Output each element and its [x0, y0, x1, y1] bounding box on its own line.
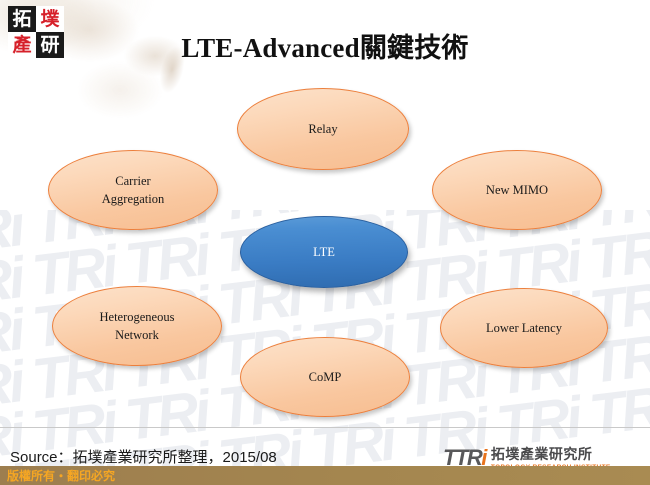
node-label-line2: Aggregation — [102, 192, 164, 206]
copyright-text: 版權所有‧翻印必究 — [7, 467, 115, 484]
copyright-bar: 版權所有‧翻印必究 — [0, 466, 650, 485]
diagram-node-lte-center[interactable]: LTE — [240, 216, 408, 288]
tri-wordmark: TTRi — [443, 448, 486, 468]
diagram-node-relay[interactable]: Relay — [237, 88, 409, 170]
node-label-line1: Heterogeneous — [100, 310, 175, 324]
slide-canvas: TRi TRi TRi TRi TRi TRi TRi TRi TRi TRi … — [0, 0, 650, 485]
node-label: New MIMO — [478, 181, 556, 199]
node-label: LTE — [305, 243, 343, 261]
tri-logo-chinese: 拓墣產業研究所 — [491, 448, 611, 463]
node-label-line1: Carrier — [115, 174, 150, 188]
node-label: Heterogeneous Network — [92, 308, 183, 344]
diagram-node-lower-latency[interactable]: Lower Latency — [440, 288, 608, 368]
node-label: Carrier Aggregation — [94, 172, 172, 208]
node-label: Lower Latency — [478, 319, 570, 337]
page-title: LTE-Advanced關鍵技術 — [0, 26, 650, 65]
node-label: CoMP — [301, 368, 350, 386]
diagram-node-heterogeneous-network[interactable]: Heterogeneous Network — [52, 286, 222, 366]
node-label: Relay — [300, 120, 345, 138]
node-label-line2: Network — [115, 328, 159, 342]
footer-divider — [0, 427, 650, 428]
diagram-node-new-mimo[interactable]: New MIMO — [432, 150, 602, 230]
source-note: Source：拓墣產業研究所整理，2015/08 — [10, 446, 277, 467]
diagram-node-carrier-aggregation[interactable]: Carrier Aggregation — [48, 150, 218, 230]
diagram-node-comp[interactable]: CoMP — [240, 337, 410, 417]
